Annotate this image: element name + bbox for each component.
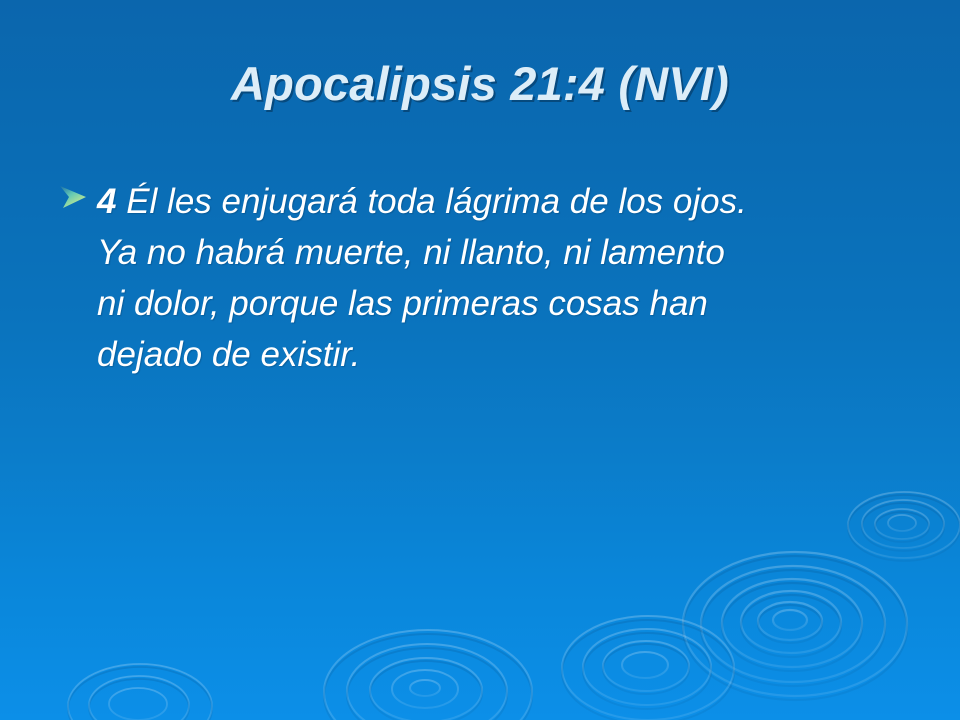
ripple-cluster-large-center [683, 552, 907, 700]
presentation-slide: Apocalipsis 21:4 (NVI) 4 Él les enjugará… [0, 0, 960, 720]
arrowhead-bullet-icon [58, 184, 88, 210]
ripple-cluster-bottom-mid [562, 616, 734, 720]
ripple-cluster-bottom-left [324, 630, 532, 720]
verse-line-1: 4 Él les enjugará toda lágrima de los oj… [97, 176, 918, 227]
verse-body: 4 Él les enjugará toda lágrima de los oj… [58, 176, 918, 380]
page-title: Apocalipsis 21:4 (NVI) [0, 56, 960, 111]
ripple-cluster-far-left [68, 664, 212, 720]
verse-line-1-text: Él les enjugará toda lágrima de los ojos… [116, 182, 746, 221]
verse-text: 4 Él les enjugará toda lágrima de los oj… [97, 176, 918, 380]
list-item: 4 Él les enjugará toda lágrima de los oj… [58, 176, 918, 380]
verse-line-2: Ya no habrá muerte, ni llanto, ni lament… [97, 227, 918, 278]
ripple-cluster-top-right [848, 492, 960, 561]
verse-number: 4 [97, 182, 116, 221]
verse-line-4: dejado de existir. [97, 329, 918, 380]
verse-line-3: ni dolor, porque las primeras cosas han [97, 278, 918, 329]
